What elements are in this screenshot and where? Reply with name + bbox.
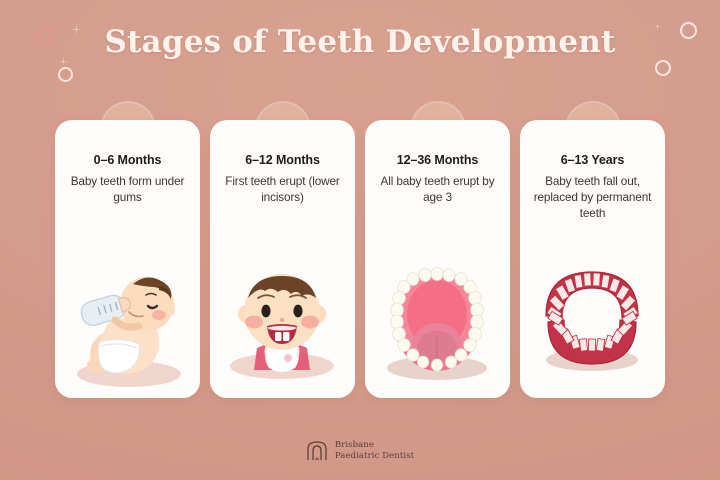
brand-line-2: Paediatric Dentist (335, 451, 414, 462)
card-body-text: All baby teeth erupt by age 3 (372, 174, 503, 206)
card-heading: 6–13 Years (528, 153, 657, 167)
baby-with-bottle-illustration (55, 262, 200, 392)
brand-text: Brisbane Paediatric Dentist (335, 440, 414, 462)
card-surface: 6–13 Years Baby teeth fall out, replaced… (520, 120, 665, 398)
stage-card-6-12-months[interactable]: 6–12 Months First teeth erupt (lower inc… (210, 120, 355, 398)
card-body-text: Baby teeth form under gums (62, 174, 193, 206)
card-surface: 0–6 Months Baby teeth form under gums (55, 120, 200, 398)
card-heading: 0–6 Months (63, 153, 192, 167)
page-title: Stages of Teeth Development (0, 24, 720, 60)
card-surface: 12–36 Months All baby teeth erupt by age… (365, 120, 510, 398)
ring-white-right-lower-icon (655, 60, 671, 76)
upper-lower-dental-arches-illustration (520, 262, 665, 392)
card-surface: 6–12 Months First teeth erupt (lower inc… (210, 120, 355, 398)
ring-white-left-icon (58, 67, 73, 82)
brand-footer: Brisbane Paediatric Dentist (0, 440, 720, 462)
stage-card-6-13-years[interactable]: 6–13 Years Baby teeth fall out, replaced… (520, 120, 665, 398)
card-heading: 12–36 Months (373, 153, 502, 167)
stage-card-list: 0–6 Months Baby teeth form under gums (55, 120, 665, 398)
infographic-canvas: Stages of Teeth Development 0–6 Months B… (0, 0, 720, 480)
stage-card-0-6-months[interactable]: 0–6 Months Baby teeth form under gums (55, 120, 200, 398)
smiling-baby-two-teeth-illustration (210, 262, 355, 392)
brand-line-1: Brisbane (335, 440, 414, 451)
card-body-text: Baby teeth fall out, replaced by permane… (527, 174, 658, 221)
card-body-text: First teeth erupt (lower incisors) (217, 174, 348, 206)
open-mouth-full-baby-teeth-illustration (365, 262, 510, 392)
tooth-arch-logo-icon (306, 440, 328, 462)
stage-card-12-36-months[interactable]: 12–36 Months All baby teeth erupt by age… (365, 120, 510, 398)
card-heading: 6–12 Months (218, 153, 347, 167)
